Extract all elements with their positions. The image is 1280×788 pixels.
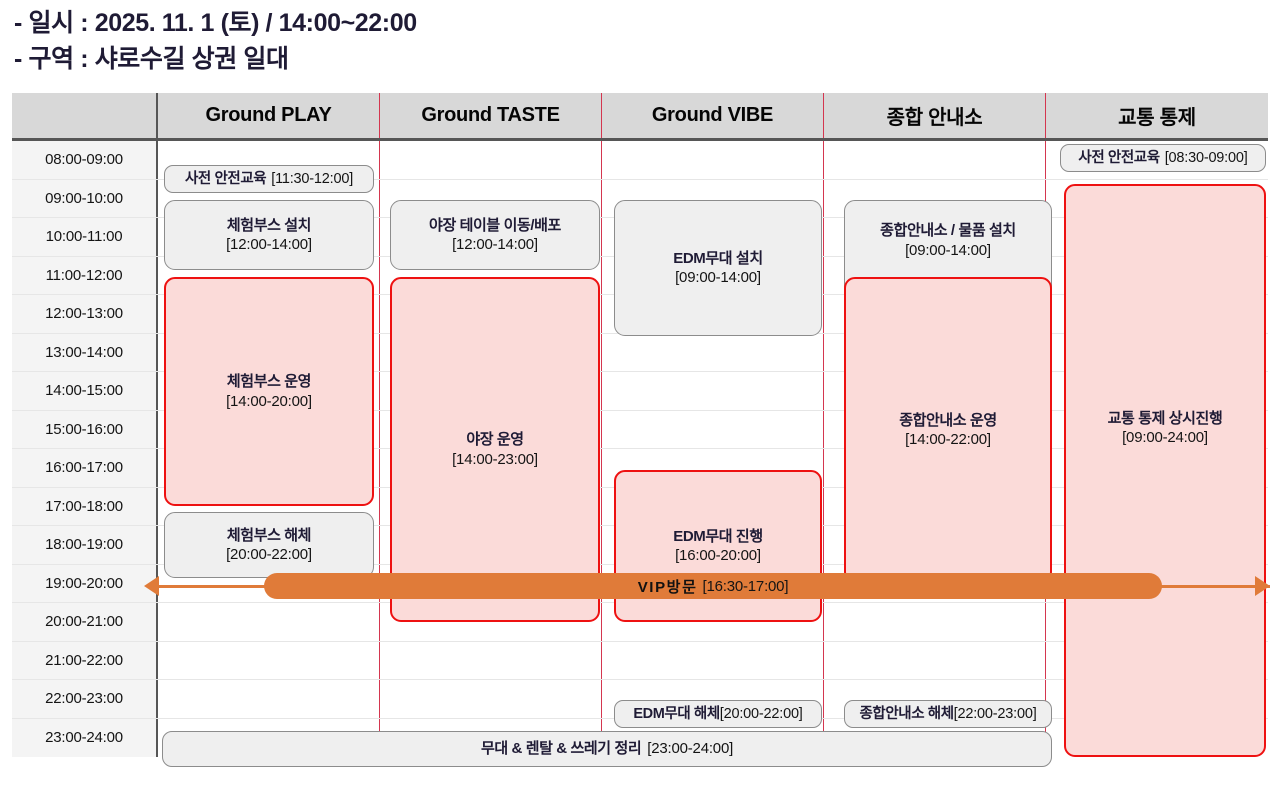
timetable-cell	[602, 411, 824, 449]
event-block-taste-setup[interactable]: 야장 테이블 이동/배포 [12:00-14:00]	[390, 200, 600, 270]
event-title: 체험부스 운영	[227, 372, 311, 391]
event-title: 야장 테이블 이동/배포	[429, 216, 561, 235]
event-heading: - 일시 : 2025. 11. 1 (토) / 14:00~22:00 - 구…	[0, 0, 1280, 77]
time-slot-label: 10:00-11:00	[12, 218, 158, 256]
event-time: [14:00-22:00]	[905, 430, 991, 449]
time-slot-label: 13:00-14:00	[12, 334, 158, 372]
vip-title: VIP방문	[638, 576, 698, 597]
timetable-cell	[824, 603, 1046, 641]
event-title: 야장 운영	[466, 430, 523, 449]
timetable-cell	[602, 642, 824, 680]
event-block-play-setup[interactable]: 체험부스 설치 [12:00-14:00]	[164, 200, 374, 270]
event-title: 종합안내소 해체	[859, 705, 953, 724]
timetable-cell	[380, 141, 602, 179]
event-time: [09:00-14:00]	[675, 268, 761, 287]
column-header-traffic-control: 교통 통제	[1046, 93, 1268, 138]
event-block-vibe-setup[interactable]: EDM무대 설치 [09:00-14:00]	[614, 200, 822, 336]
timetable-cell	[824, 141, 1046, 179]
event-title: 체험부스 설치	[227, 216, 311, 235]
time-slot-label: 14:00-15:00	[12, 372, 158, 410]
event-block-play-teardown[interactable]: 체험부스 해체 [20:00-22:00]	[164, 512, 374, 578]
time-slot-label: 11:00-12:00	[12, 257, 158, 295]
event-title: EDM무대 해체	[633, 705, 719, 724]
event-time: [08:30-09:00]	[1165, 149, 1248, 168]
event-title: 종합안내소 / 물품 설치	[880, 221, 1016, 240]
timetable-cell	[158, 603, 380, 641]
event-block-vibe-teardown[interactable]: EDM무대 해체 [20:00-22:00]	[614, 700, 822, 728]
event-title: EDM무대 설치	[673, 249, 763, 268]
event-block-play-safety[interactable]: 사전 안전교육 [11:30-12:00]	[164, 165, 374, 193]
event-title: 사전 안전교육	[185, 170, 266, 189]
event-time: [20:00-22:00]	[226, 545, 312, 564]
vip-time: [16:30-17:00]	[702, 578, 788, 595]
timetable-cell	[158, 680, 380, 718]
time-slot-label: 18:00-19:00	[12, 526, 158, 564]
column-header-ground-vibe: Ground VIBE	[602, 93, 824, 138]
event-block-info-setup: 종합안내소 / 물품 설치 [09:00-14:00]	[880, 221, 1016, 259]
time-slot-label: 12:00-13:00	[12, 295, 158, 333]
timetable-cell	[602, 334, 824, 372]
heading-area-line: - 구역 : 샤로수길 상권 일대	[14, 42, 1280, 78]
event-block-traffic-run[interactable]: 교통 통제 상시진행 [09:00-24:00]	[1064, 184, 1266, 757]
event-block-taste-run[interactable]: 야장 운영 [14:00-23:00]	[390, 277, 600, 622]
event-block-info-teardown[interactable]: 종합안내소 해체 [22:00-23:00]	[844, 700, 1052, 728]
column-header-info-center: 종합 안내소	[824, 93, 1046, 138]
event-time: [12:00-14:00]	[452, 235, 538, 254]
timetable-cell	[380, 680, 602, 718]
time-slot-label: 16:00-17:00	[12, 449, 158, 487]
timetable-cell	[158, 642, 380, 680]
schedule-timetable: Ground PLAY Ground TASTE Ground VIBE 종합 …	[12, 93, 1268, 757]
column-header-time	[12, 93, 158, 138]
event-time: [14:00-23:00]	[452, 450, 538, 469]
event-title: 체험부스 해체	[227, 526, 311, 545]
time-slot-label: 08:00-09:00	[12, 141, 158, 179]
event-title: 교통 통제 상시진행	[1108, 409, 1223, 428]
event-time: [20:00-22:00]	[720, 705, 803, 724]
time-slot-label: 21:00-22:00	[12, 642, 158, 680]
event-block-play-run[interactable]: 체험부스 운영 [14:00-20:00]	[164, 277, 374, 506]
timetable-header-row: Ground PLAY Ground TASTE Ground VIBE 종합 …	[12, 93, 1268, 141]
event-time: [22:00-23:00]	[954, 705, 1037, 724]
event-time: [09:00-14:00]	[880, 241, 1016, 260]
event-block-vibe-run[interactable]: EDM무대 진행 [16:00-20:00]	[614, 470, 822, 622]
timetable-cell	[602, 372, 824, 410]
time-slot-label: 17:00-18:00	[12, 488, 158, 526]
event-time: [09:00-24:00]	[1122, 428, 1208, 447]
time-slot-label: 23:00-24:00	[12, 719, 158, 758]
event-time: [12:00-14:00]	[226, 235, 312, 254]
time-slot-label: 15:00-16:00	[12, 411, 158, 449]
event-title: EDM무대 진행	[673, 527, 763, 546]
heading-date-line: - 일시 : 2025. 11. 1 (토) / 14:00~22:00	[14, 6, 1280, 42]
event-title: 무대 & 렌탈 & 쓰레기 정리	[481, 739, 641, 758]
event-time: [23:00-24:00]	[647, 739, 733, 758]
column-header-ground-taste: Ground TASTE	[380, 93, 602, 138]
timetable-cell	[380, 642, 602, 680]
time-slot-label: 09:00-10:00	[12, 180, 158, 218]
timetable-cell	[824, 642, 1046, 680]
time-slot-label: 22:00-23:00	[12, 680, 158, 718]
timetable-cell	[602, 141, 824, 179]
column-header-ground-play: Ground PLAY	[158, 93, 380, 138]
event-title: 종합안내소 운영	[899, 411, 997, 430]
event-time: [14:00-20:00]	[226, 392, 312, 411]
time-slot-label: 19:00-20:00	[12, 565, 158, 603]
event-block-cleanup[interactable]: 무대 & 렌탈 & 쓰레기 정리 [23:00-24:00]	[162, 731, 1052, 767]
vip-visit-bar[interactable]: VIP방문 [16:30-17:00]	[264, 573, 1162, 599]
event-time: [16:00-20:00]	[675, 546, 761, 565]
event-block-info-run[interactable]: 종합안내소 운영 [14:00-22:00]	[844, 277, 1052, 583]
event-time: [11:30-12:00]	[271, 170, 353, 189]
event-title: 사전 안전교육	[1078, 149, 1159, 168]
time-slot-label: 20:00-21:00	[12, 603, 158, 641]
event-block-traffic-safety[interactable]: 사전 안전교육 [08:30-09:00]	[1060, 144, 1266, 172]
